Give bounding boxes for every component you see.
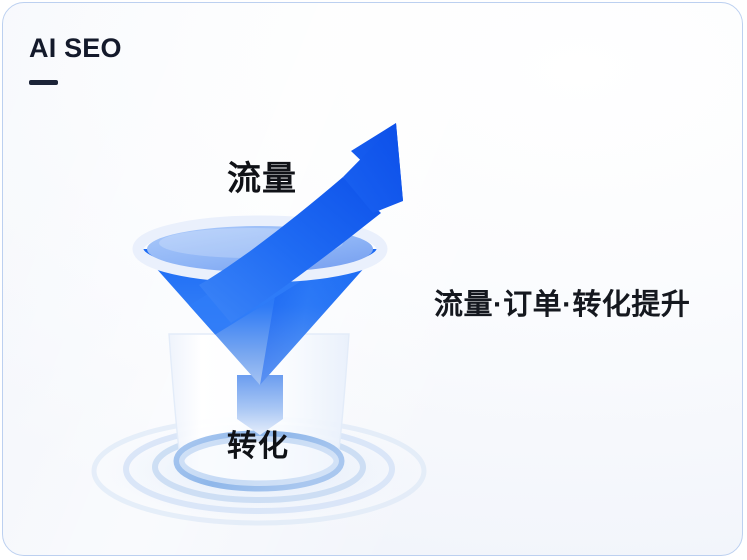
label-conversion: 转化 xyxy=(227,421,289,465)
tagline-text: 流量·订单·转化提升 xyxy=(434,281,690,323)
header: AI SEO xyxy=(29,35,122,85)
screenshot-canvas: AI SEO 流量·订单·转化提升 xyxy=(0,0,747,560)
slide-card: AI SEO 流量·订单·转化提升 xyxy=(2,2,743,556)
page-title: AI SEO xyxy=(29,35,122,62)
seo-funnel-illustration: 流量 转化 xyxy=(51,89,451,529)
title-underline-rule xyxy=(29,80,58,85)
label-traffic: 流量 xyxy=(227,151,297,200)
